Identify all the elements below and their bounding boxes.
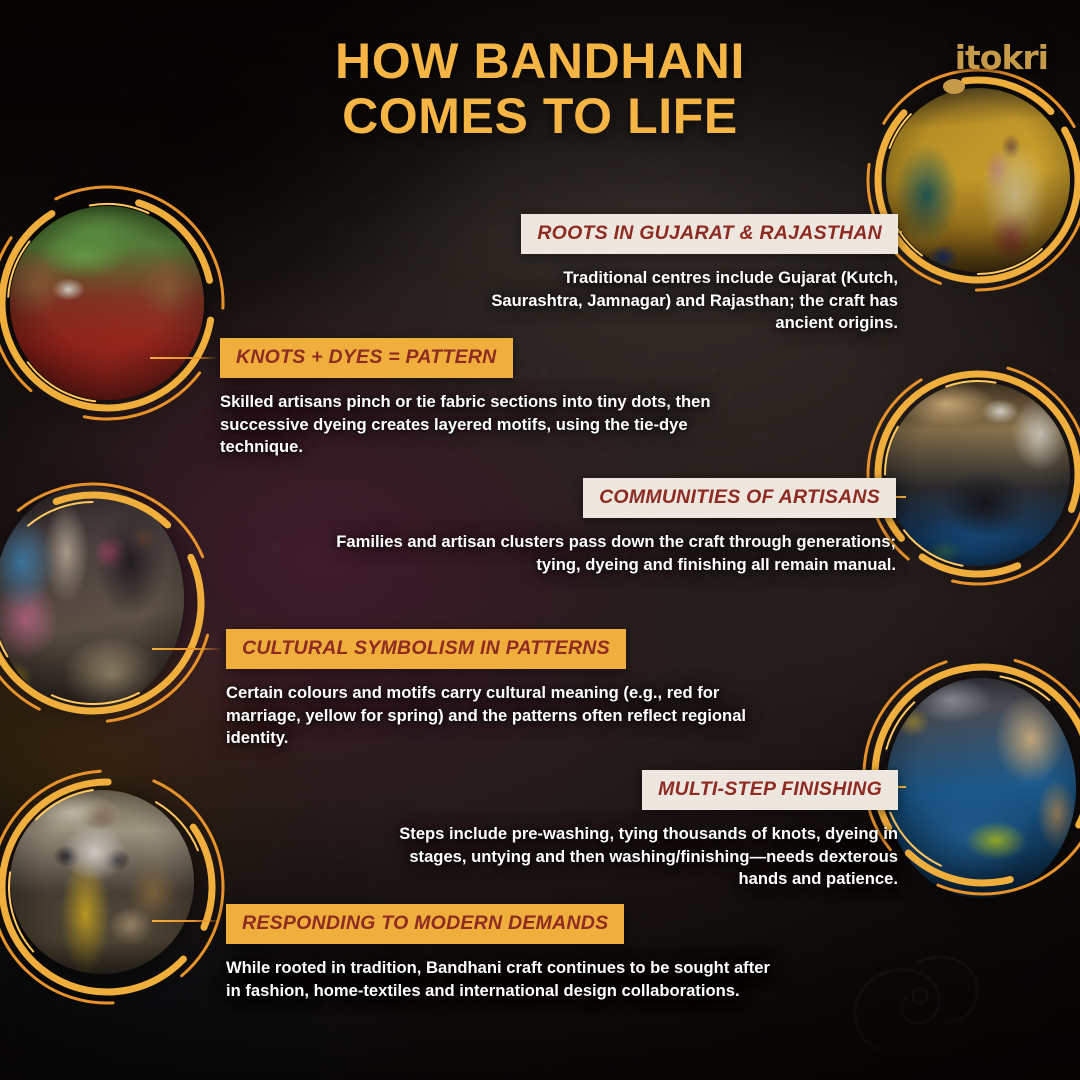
section-body-finishing: Steps include pre-washing, tying thousan… — [358, 823, 898, 891]
section-body-modern-demands: While rooted in tradition, Bandhani craf… — [226, 957, 786, 1002]
section-modern-demands: RESPONDING TO MODERN DEMANDS While roote… — [226, 904, 786, 1002]
connector-line-4 — [152, 648, 222, 650]
section-body-symbolism: Certain colours and motifs carry cultura… — [226, 682, 786, 750]
section-heading-knots-dyes: KNOTS + DYES = PATTERN — [220, 338, 513, 378]
photo-hands-tying-red-fabric — [10, 206, 204, 400]
section-heading-communities: COMMUNITIES OF ARTISANS — [583, 478, 896, 518]
photo-indigo-dye-vat — [886, 678, 1076, 898]
section-body-roots: Traditional centres include Gujarat (Kut… — [478, 267, 898, 335]
page-title: HOW BANDHANI COMES TO LIFE — [0, 34, 1080, 144]
brand-logo[interactable]: itokri — [944, 38, 1048, 77]
section-communities: COMMUNITIES OF ARTISANS Families and art… — [536, 478, 896, 576]
photo-women-tying-cream-fabric — [0, 486, 184, 710]
section-symbolism: CULTURAL SYMBOLISM IN PATTERNS Certain c… — [226, 629, 786, 750]
photo-dyer-blue-tub — [886, 382, 1070, 566]
section-knots-dyes: KNOTS + DYES = PATTERN Skilled artisans … — [220, 338, 750, 459]
section-heading-finishing: MULTI-STEP FINISHING — [642, 770, 898, 810]
page-title-line-2: COMES TO LIFE — [140, 89, 940, 144]
section-heading-symbolism: CULTURAL SYMBOLISM IN PATTERNS — [226, 629, 626, 669]
section-body-knots-dyes: Skilled artisans pinch or tie fabric sec… — [220, 391, 750, 459]
page-title-line-1: HOW BANDHANI — [335, 33, 745, 89]
section-heading-modern-demands: RESPONDING TO MODERN DEMANDS — [226, 904, 624, 944]
infographic-canvas: HOW BANDHANI COMES TO LIFE itokri — [0, 0, 1080, 1080]
connector-line-2 — [150, 357, 218, 359]
section-finishing: MULTI-STEP FINISHING Steps include pre-w… — [598, 770, 898, 891]
photo-artisan-yellow-fabric — [10, 790, 194, 974]
connector-line-6 — [152, 920, 222, 922]
section-roots: ROOTS IN GUJARAT & RAJASTHAN Traditional… — [478, 214, 898, 335]
section-heading-roots: ROOTS IN GUJARAT & RAJASTHAN — [521, 214, 898, 254]
brand-logo-text: itokri — [955, 38, 1048, 77]
section-body-communities: Families and artisan clusters pass down … — [300, 531, 896, 576]
